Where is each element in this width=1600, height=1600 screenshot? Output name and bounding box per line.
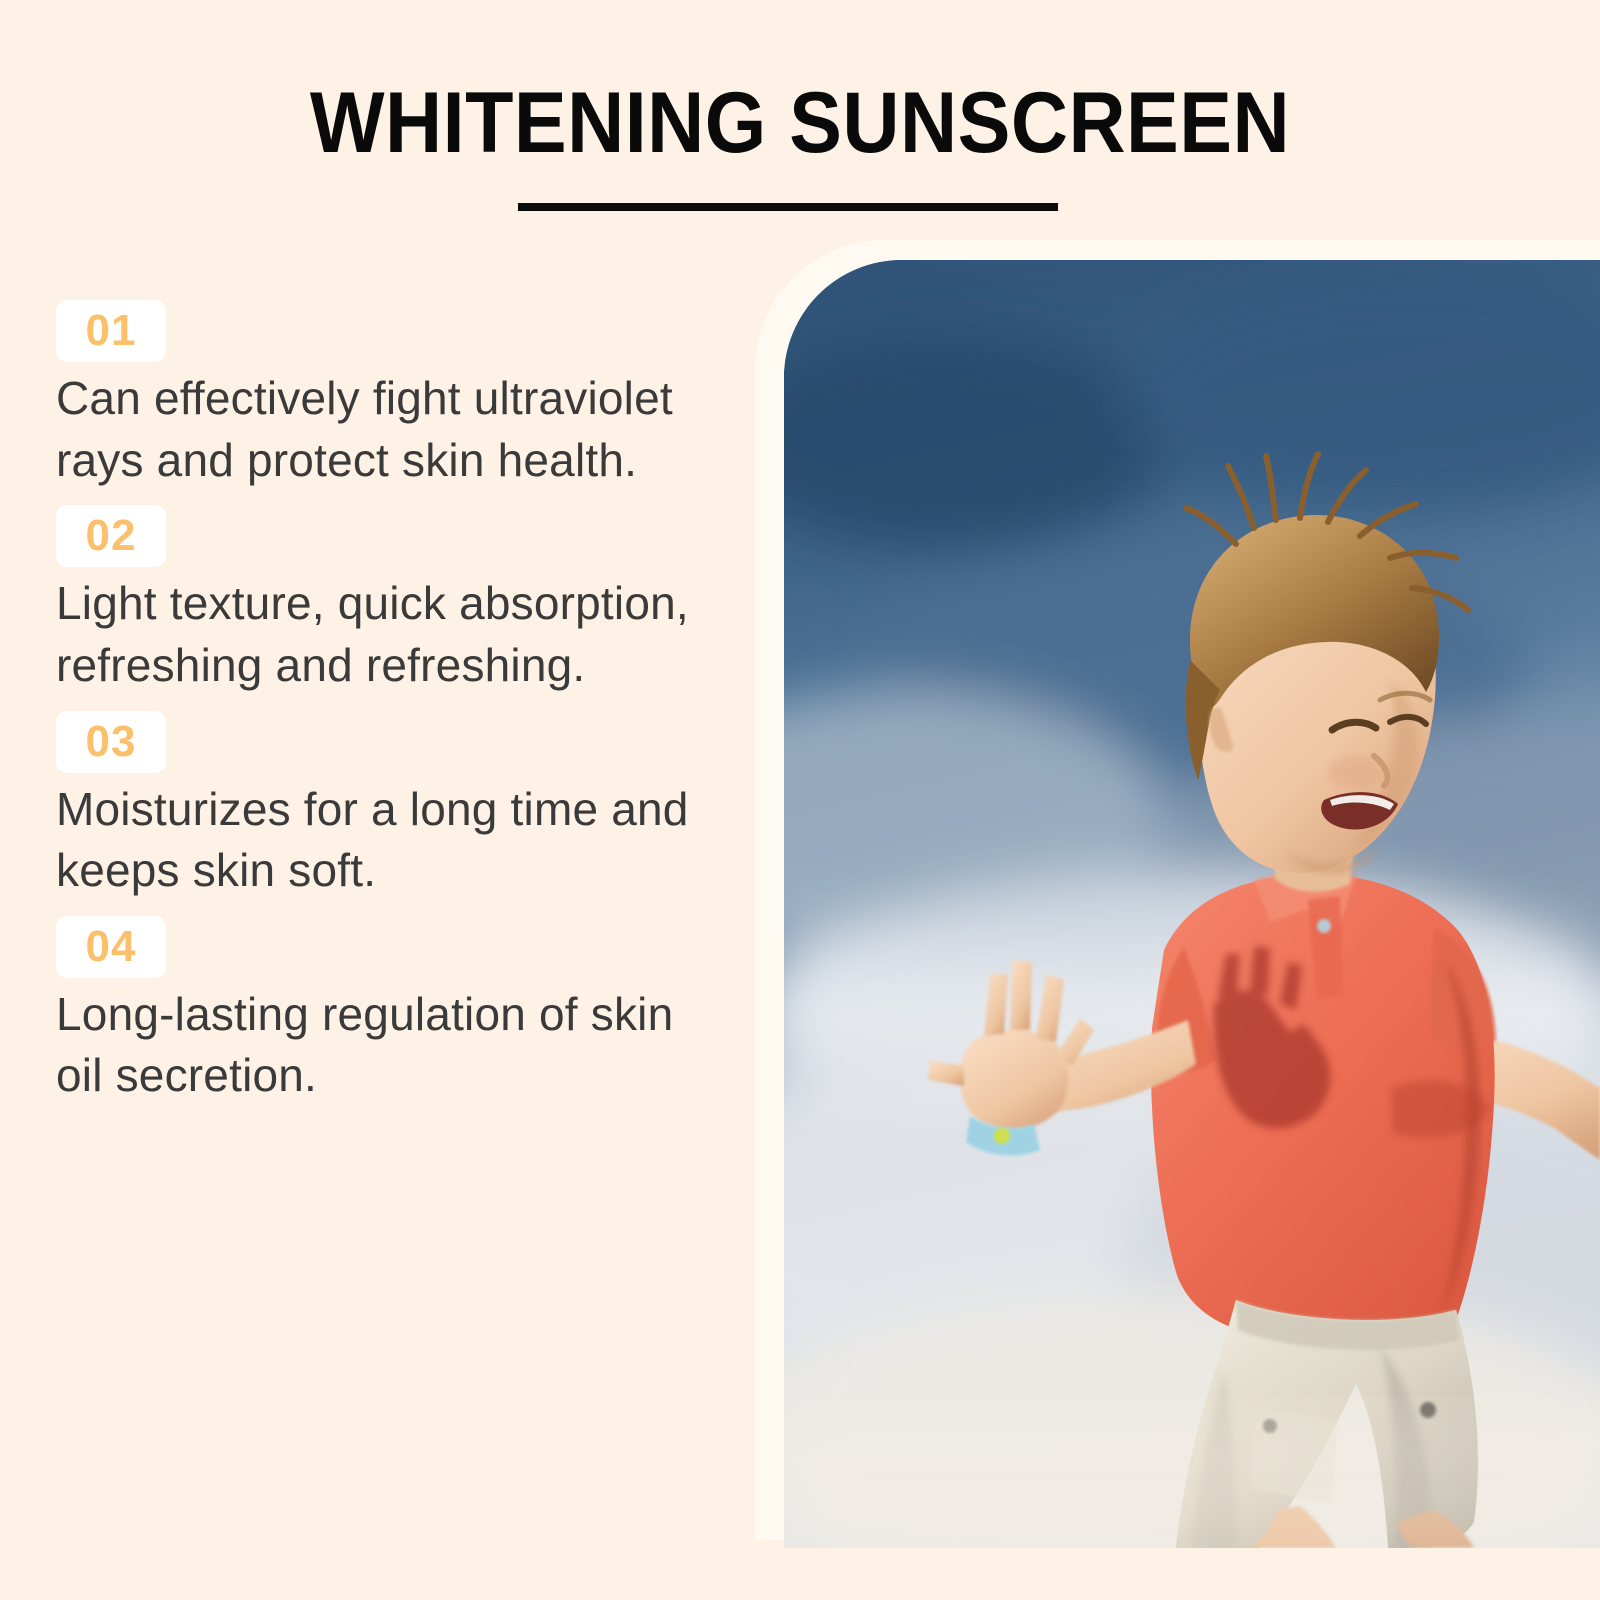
product-lifestyle-photo [784,260,1600,1548]
feature-description: Light texture, quick absorption, refresh… [56,573,696,696]
list-item: 03 Moisturizes for a long time and keeps… [56,711,716,902]
title-underline-rule [518,203,1058,211]
wristband-charm [994,1128,1010,1144]
feature-number-badge: 01 [56,300,166,362]
shirt-button [1317,919,1331,933]
feature-description: Long-lasting regulation of skin oil secr… [56,984,696,1107]
feature-list: 01 Can effectively fight ultraviolet ray… [56,300,716,1121]
feature-number-badge: 02 [56,505,166,567]
feature-number-badge: 03 [56,711,166,773]
list-item: 04 Long-lasting regulation of skin oil s… [56,916,716,1107]
photo-illustration [784,260,1600,1548]
list-item: 02 Light texture, quick absorption, refr… [56,505,716,696]
page-title: WHITENING SUNSCREEN [64,80,1536,166]
list-item: 01 Can effectively fight ultraviolet ray… [56,300,716,491]
feature-number-badge: 04 [56,916,166,978]
feature-description: Moisturizes for a long time and keeps sk… [56,779,696,902]
poster-root: WHITENING SUNSCREEN 01 Can effectively f… [0,0,1600,1600]
cheek [1328,756,1380,788]
feature-description: Can effectively fight ultraviolet rays a… [56,368,696,491]
poster-header: WHITENING SUNSCREEN [0,0,1600,240]
sun-haze [784,1410,1600,1548]
